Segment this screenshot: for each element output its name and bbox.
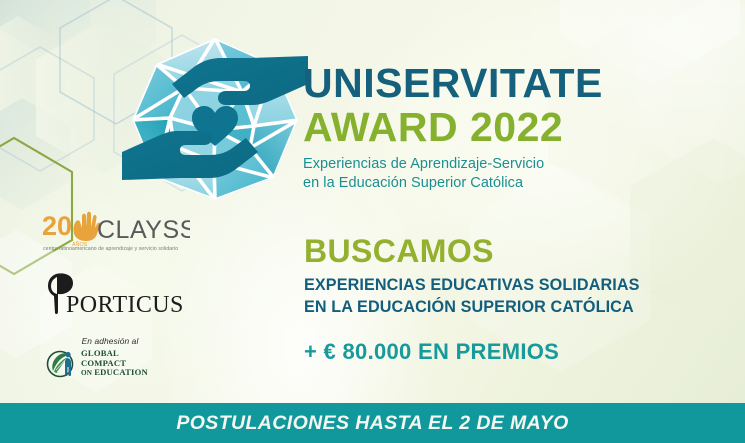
hands-holding-heart-globe-logo [122,22,308,210]
uniservitate-wordmark: UNISERVITATE AWARD 2022 Experiencias de … [303,62,723,192]
deadline-text: POSTULACIONES HASTA EL 2 DE MAYO [176,412,568,435]
uniservitate-award-banner: UNISERVITATE AWARD 2022 Experiencias de … [0,0,745,443]
clayss-logo-graphic: 20 AÑOS CLAYSS centro latinoamericano de… [40,206,190,256]
clayss-name: CLAYSS [97,216,190,244]
global-compact-kicker: En adhesión al [40,336,180,346]
sponsor-logo-stack: 20 AÑOS CLAYSS centro latinoamericano de… [40,206,240,379]
main-headline: BUSCAMOS [304,234,724,268]
wordmark-subtitle-line-2: en la Educación Superior Católica [303,174,723,193]
main-copy-block: BUSCAMOS EXPERIENCIAS EDUCATIVAS SOLIDAR… [304,234,724,364]
prize-amount-text: + € 80.000 EN PREMIOS [304,339,724,364]
global-compact-name: GLOBAL COMPACT ON EDUCATION [81,349,148,378]
global-compact-logo: En adhesión al GLOBAL COMPACT ON [40,336,240,379]
wordmark-line-uniservitate: UNISERVITATE [303,62,723,104]
clayss-logo: 20 AÑOS CLAYSS centro latinoamericano de… [40,206,240,256]
global-compact-line-3-main: EDUCATION [94,367,148,377]
porticus-logo-graphic: PORTICUS [40,268,190,322]
main-subheadline: EXPERIENCIAS EDUCATIVAS SOLIDARIAS EN LA… [304,275,724,318]
deadline-footer-bar: POSTULACIONES HASTA EL 2 DE MAYO [0,403,745,443]
main-subheadline-line-2: EN LA EDUCACIÓN SUPERIOR CATÓLICA [304,297,724,319]
wordmark-subtitle-line-1: Experiencias de Aprendizaje-Servicio [303,155,723,174]
global-compact-emblem-icon [46,349,76,379]
porticus-name: PORTICUS [66,292,184,318]
global-compact-line-3: ON EDUCATION [81,368,148,378]
main-subheadline-line-1: EXPERIENCIAS EDUCATIVAS SOLIDARIAS [304,275,724,297]
wordmark-subtitle: Experiencias de Aprendizaje-Servicio en … [303,155,723,192]
clayss-tagline: centro latinoamericano de aprendizaje y … [43,246,178,252]
porticus-logo: PORTICUS [40,268,240,322]
global-compact-line-3-prefix: ON [81,369,94,377]
wordmark-line-award-2022: AWARD 2022 [303,104,723,150]
clayss-anniversary-number: 20 [42,211,72,241]
